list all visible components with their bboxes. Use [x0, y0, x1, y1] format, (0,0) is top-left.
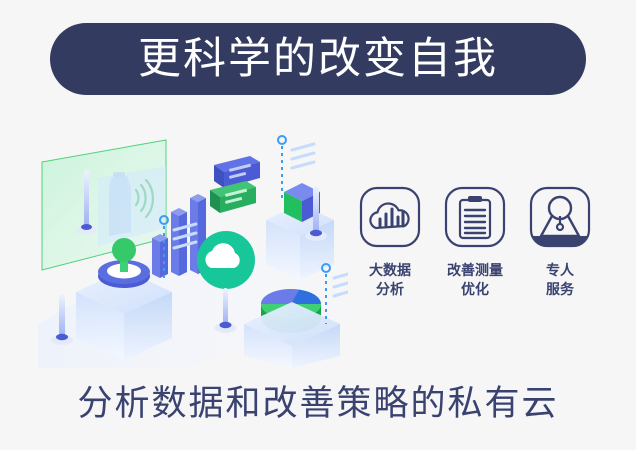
- hero-illustration: [38, 128, 348, 368]
- feature-item-service[interactable]: 专人 服务: [522, 186, 598, 299]
- label-card-green: [210, 181, 256, 213]
- feature-list: 大数据 分析 改善测量 优化: [352, 186, 600, 299]
- green-panel: [42, 140, 166, 270]
- label-card-blue: [214, 156, 260, 188]
- person-service-icon: [529, 186, 591, 248]
- feature-label-measurement: 改善测量 优化: [447, 261, 503, 299]
- feature-item-measurement[interactable]: 改善测量 优化: [437, 186, 513, 299]
- cloud-bar-chart-icon: [359, 186, 421, 248]
- footer-tagline: 分析数据和改善策略的私有云: [0, 383, 636, 425]
- bottle-silhouette: [109, 172, 131, 236]
- feature-item-big-data[interactable]: 大数据 分析: [352, 186, 428, 299]
- page-root: 更科学的改变自我: [0, 0, 636, 450]
- page-title: 更科学的改变自我: [138, 38, 498, 81]
- feature-label-big-data: 大数据 分析: [369, 261, 411, 299]
- header-banner: 更科学的改变自我: [50, 23, 586, 95]
- clipboard-icon: [444, 186, 506, 248]
- feature-label-service: 专人 服务: [546, 261, 574, 299]
